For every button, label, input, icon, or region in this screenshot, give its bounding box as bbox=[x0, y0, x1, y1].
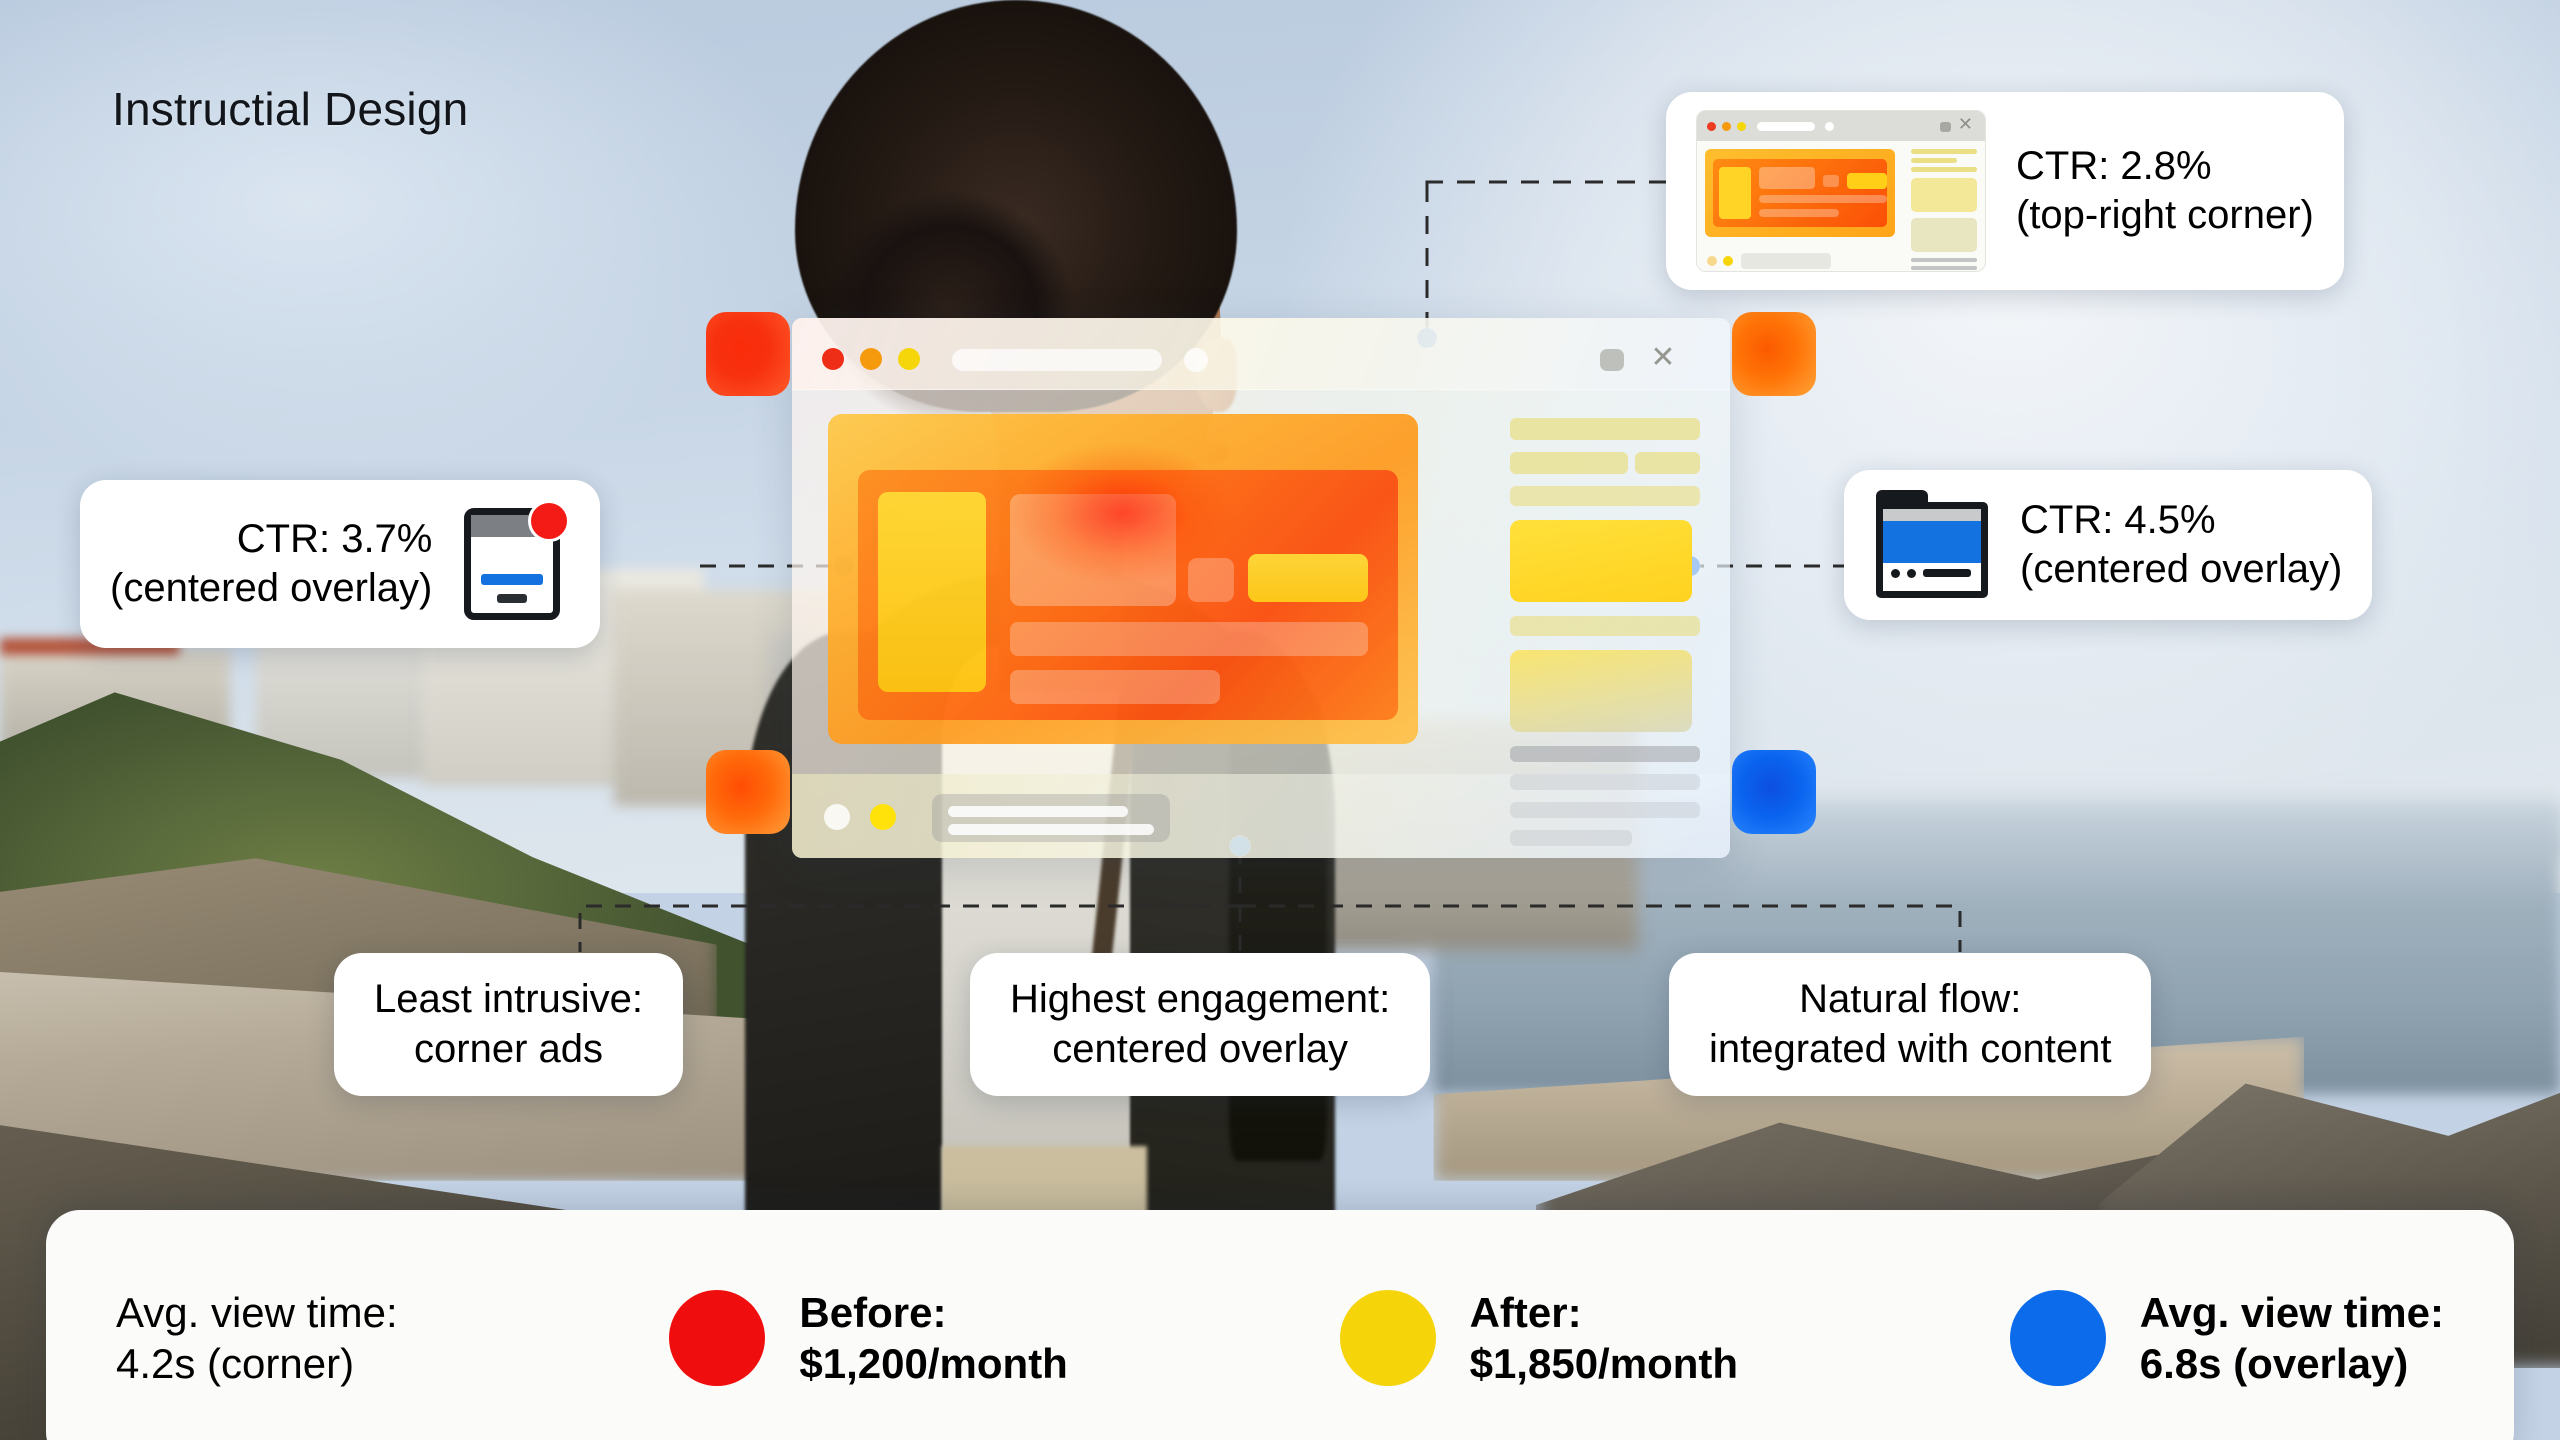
bottom-callout-least-intrusive[interactable]: Least intrusive: corner ads bbox=[334, 953, 683, 1096]
traffic-light-orange-icon[interactable] bbox=[860, 348, 882, 370]
bottom-dot-yellow-icon[interactable] bbox=[870, 804, 896, 830]
folder-window-icon bbox=[1874, 490, 1990, 600]
sidebar-tile bbox=[1510, 650, 1692, 732]
swatch-blue-icon bbox=[2010, 1290, 2106, 1386]
mockup-title-bar: ✕ bbox=[792, 318, 1730, 390]
tablet-notification-icon bbox=[458, 500, 570, 628]
ad-cta-button[interactable] bbox=[1248, 554, 1368, 602]
corner-swatch-top-left bbox=[706, 312, 790, 396]
ad-sidebar-block bbox=[878, 492, 986, 692]
close-icon[interactable]: ✕ bbox=[1648, 344, 1678, 374]
page-title: Instructial Design bbox=[112, 82, 468, 136]
mockup-ad-overlay[interactable] bbox=[858, 470, 1398, 720]
browser-mockup[interactable]: ✕ bbox=[706, 318, 1816, 858]
bottom-callout-natural-flow[interactable]: Natural flow: integrated with content bbox=[1669, 953, 2151, 1096]
stat-line-2: 6.8s (overlay) bbox=[2140, 1338, 2444, 1389]
ad-image-card bbox=[1010, 494, 1176, 606]
bottom-callout-line-1: Highest engagement: bbox=[1010, 975, 1390, 1025]
ad-text-line bbox=[1010, 622, 1368, 656]
stats-bar: Avg. view time: 4.2s (corner) Before: $1… bbox=[46, 1210, 2514, 1440]
stat-line-1: After: bbox=[1470, 1287, 1738, 1338]
callout-card-top-right[interactable]: ✕ CTR: 2.8% (top-right corner) bbox=[1666, 92, 2344, 290]
stat-line-1: Avg. view time: bbox=[2140, 1287, 2444, 1338]
stat-line-1: Avg. view time: bbox=[116, 1287, 398, 1338]
bottom-callout-line-1: Natural flow: bbox=[1709, 975, 2111, 1025]
bottom-text-line bbox=[948, 824, 1154, 835]
mockup-frame: ✕ bbox=[792, 318, 1730, 858]
bottom-dot-white-icon[interactable] bbox=[824, 804, 850, 830]
ad-text-line bbox=[1010, 670, 1220, 704]
callout-line-2: (top-right corner) bbox=[2016, 191, 2314, 240]
corner-swatch-bottom-right bbox=[1732, 750, 1816, 834]
stat-avg-view-time-corner: Avg. view time: 4.2s (corner) bbox=[116, 1287, 398, 1389]
stat-after-cost: After: $1,850/month bbox=[1340, 1287, 1738, 1389]
callout-line-1: CTR: 4.5% bbox=[2020, 496, 2342, 545]
bottom-text-line bbox=[948, 806, 1128, 817]
mockup-bottom-bar bbox=[792, 774, 1730, 858]
callout-line-1: CTR: 2.8% bbox=[2016, 142, 2314, 191]
bottom-callout-highest-engagement[interactable]: Highest engagement: centered overlay bbox=[970, 953, 1430, 1096]
sidebar-tile bbox=[1510, 520, 1692, 602]
callout-card-left[interactable]: CTR: 3.7% (centered overlay) bbox=[80, 480, 600, 648]
bottom-callout-line-2: corner ads bbox=[374, 1025, 643, 1075]
swatch-red-icon bbox=[669, 1290, 765, 1386]
callout-line-2: (centered overlay) bbox=[110, 564, 432, 613]
notification-badge-icon bbox=[528, 500, 570, 542]
stat-before-cost: Before: $1,200/month bbox=[669, 1287, 1067, 1389]
bottom-callout-line-2: integrated with content bbox=[1709, 1025, 2111, 1075]
stat-line-1: Before: bbox=[799, 1287, 1067, 1338]
mockup-content-panel bbox=[828, 414, 1418, 744]
bottom-callout-line-1: Least intrusive: bbox=[374, 975, 643, 1025]
address-bar[interactable] bbox=[952, 349, 1162, 371]
corner-swatch-bottom-left bbox=[706, 750, 790, 834]
callout-line-2: (centered overlay) bbox=[2020, 545, 2342, 594]
stat-line-2: 4.2s (corner) bbox=[116, 1338, 398, 1389]
swatch-yellow-icon bbox=[1340, 1290, 1436, 1386]
corner-swatch-top-right bbox=[1732, 312, 1816, 396]
stat-line-2: $1,200/month bbox=[799, 1338, 1067, 1389]
profile-avatar[interactable] bbox=[1184, 348, 1208, 372]
callout-line-1: CTR: 3.7% bbox=[110, 515, 432, 564]
minimize-icon[interactable] bbox=[1600, 349, 1624, 371]
traffic-light-red-icon[interactable] bbox=[822, 348, 844, 370]
stat-line-2: $1,850/month bbox=[1470, 1338, 1738, 1389]
callout-card-right[interactable]: CTR: 4.5% (centered overlay) bbox=[1844, 470, 2372, 620]
traffic-light-yellow-icon[interactable] bbox=[898, 348, 920, 370]
bottom-callout-line-2: centered overlay bbox=[1010, 1025, 1390, 1075]
stat-avg-view-time-overlay: Avg. view time: 6.8s (overlay) bbox=[2010, 1287, 2444, 1389]
browser-window-icon: ✕ bbox=[1696, 110, 1986, 272]
ad-small-tile bbox=[1188, 558, 1234, 602]
